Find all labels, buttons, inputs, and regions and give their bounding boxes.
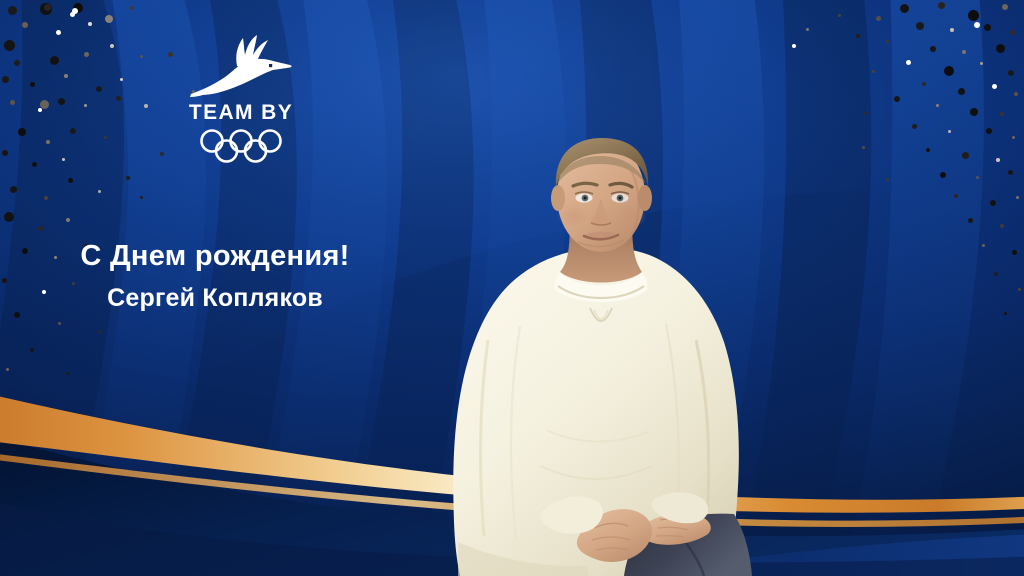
greeting-recipient-name: Сергей Копляков [0, 284, 430, 313]
logo-wordmark: TEAM BY [189, 102, 293, 123]
portrait-photo [428, 130, 768, 576]
birthday-card: TEAM BY С Днем рождения! Сергей Копляков [0, 0, 1024, 576]
olympic-rings-icon [196, 128, 286, 164]
greeting-text-block: С Днем рождения! Сергей Копляков [0, 240, 430, 313]
flying-stork-icon [189, 34, 293, 100]
greeting-headline: С Днем рождения! [0, 240, 430, 273]
team-by-logo: TEAM BY [185, 34, 297, 164]
